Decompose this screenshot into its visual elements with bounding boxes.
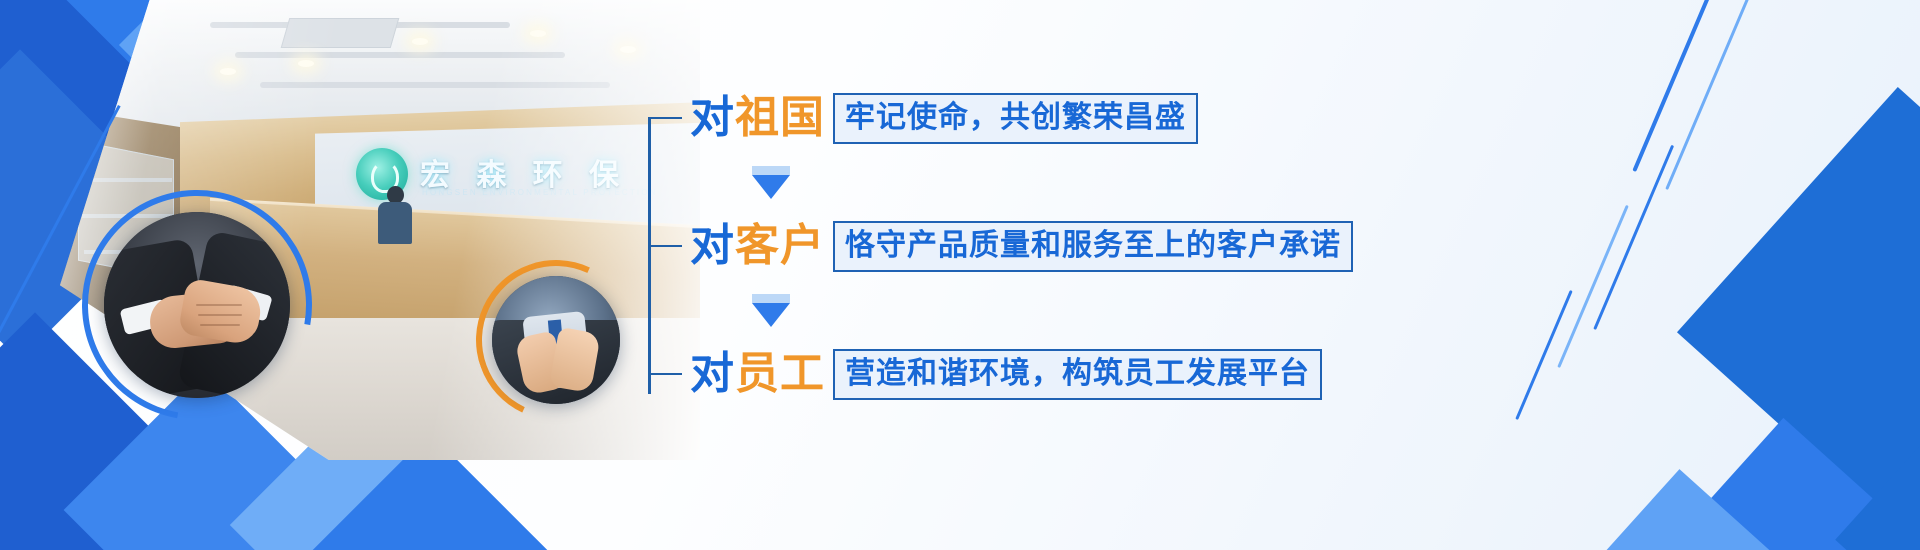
keyword-customer: 对客户 [690,224,825,268]
handshake-finger-line [200,324,240,326]
keyword-customer-target: 客户 [735,221,825,270]
triangle-down-icon-2 [752,303,790,327]
handshake-photo [104,212,290,398]
triangle-down-icon-1 [752,175,790,199]
promotional-banner: 宏 森 环 保 HONGSEN ENVIRONMENTAL PROTECTION [0,0,1920,550]
row-tick-customer [648,245,682,248]
decor-diagonal-line-2 [1665,0,1764,190]
handshake-photo-image [104,212,290,398]
triangle-down-icon-cap-2 [752,294,790,303]
handshake-finger-line [196,304,242,306]
values-row-employee: 对员工 营造和谐环境，构筑员工发展平台 [648,346,1322,402]
phrase-customer: 恪守产品质量和服务至上的客户承诺 [833,221,1353,272]
keyword-customer-prefix: 对 [690,221,735,270]
values-row-customer: 对客户 恪守产品质量和服务至上的客户承诺 [648,218,1353,274]
applause-photo [492,276,620,404]
row-tick-employee [648,373,682,376]
keyword-country: 对祖国 [690,96,825,140]
decor-diagonal-line-4 [1557,205,1629,368]
keyword-employee-target: 员工 [735,349,825,398]
phrase-employee: 营造和谐环境，构筑员工发展平台 [833,349,1322,400]
phrase-country: 牢记使命，共创繁荣昌盛 [833,93,1198,144]
values-list: 对祖国 牢记使命，共创繁荣昌盛 对客户 恪守产品质量和服务至上的客户承诺 对员工… [648,74,1348,454]
keyword-country-target: 祖国 [735,93,825,142]
triangle-down-icon-cap-1 [752,166,790,175]
row-tick-country [648,117,682,120]
decor-diagonal-line-3 [1593,145,1674,330]
values-row-country: 对祖国 牢记使命，共创繁荣昌盛 [648,90,1198,146]
keyword-country-prefix: 对 [690,93,735,142]
keyword-employee: 对员工 [690,352,825,396]
applause-photo-image [492,276,620,404]
keyword-employee-prefix: 对 [690,349,735,398]
handshake-finger-line [198,314,242,316]
